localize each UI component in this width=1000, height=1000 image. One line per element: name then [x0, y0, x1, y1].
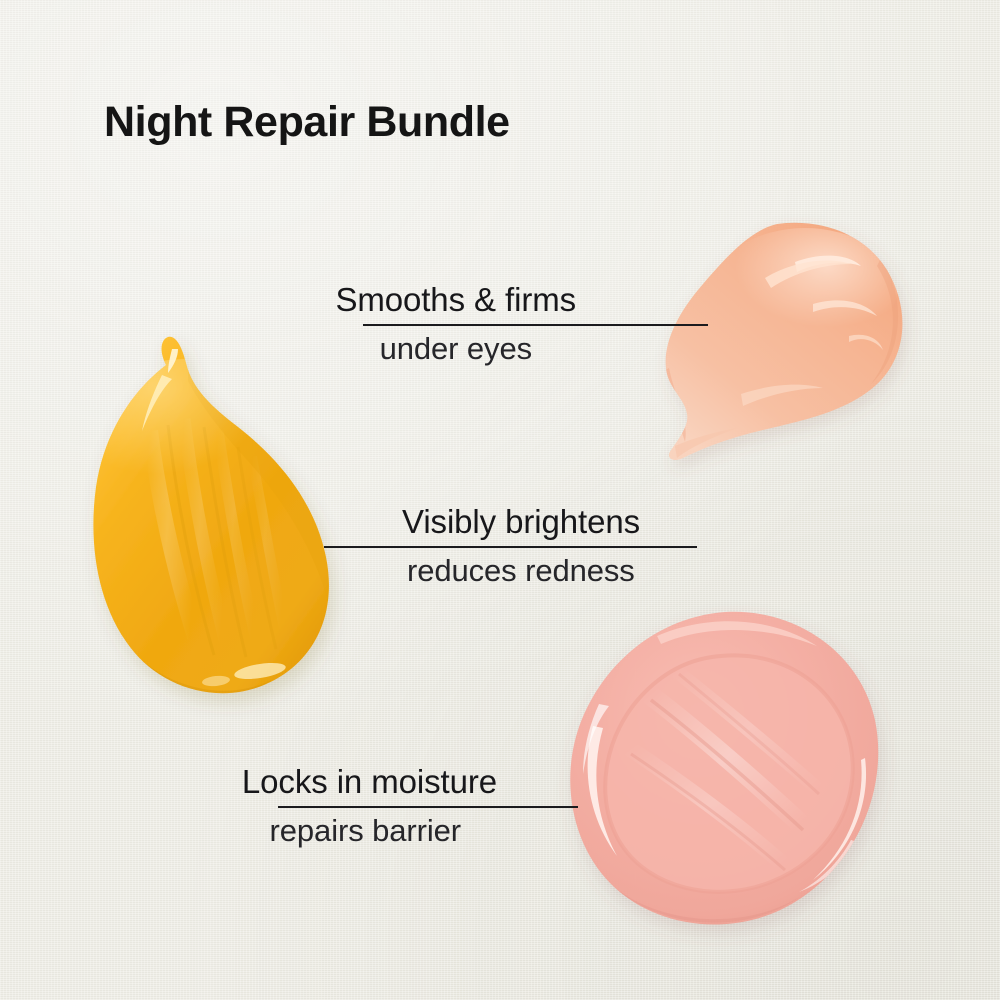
callout-headline: Smooths & firms	[0, 283, 576, 316]
page-title: Night Repair Bundle	[104, 98, 510, 147]
product-benefits-graphic: Night Repair Bundle Smooths & firms unde…	[0, 0, 1000, 1000]
peach-serum-swatch	[645, 218, 915, 468]
amber-oil-swatch	[88, 335, 378, 715]
callout-headline: Locks in moisture	[0, 765, 497, 798]
leader-line-smooths-firms	[363, 324, 708, 326]
callout-headline: Visibly brightens	[402, 505, 822, 538]
leader-line-locks-in-moisture	[278, 806, 578, 808]
leader-line-visibly-brightens	[324, 546, 697, 548]
callout-subline: under eyes	[0, 333, 576, 364]
callout-subline: repairs barrier	[0, 815, 497, 846]
pink-cream-swatch	[565, 608, 885, 938]
callout-subline: reduces redness	[402, 555, 822, 586]
